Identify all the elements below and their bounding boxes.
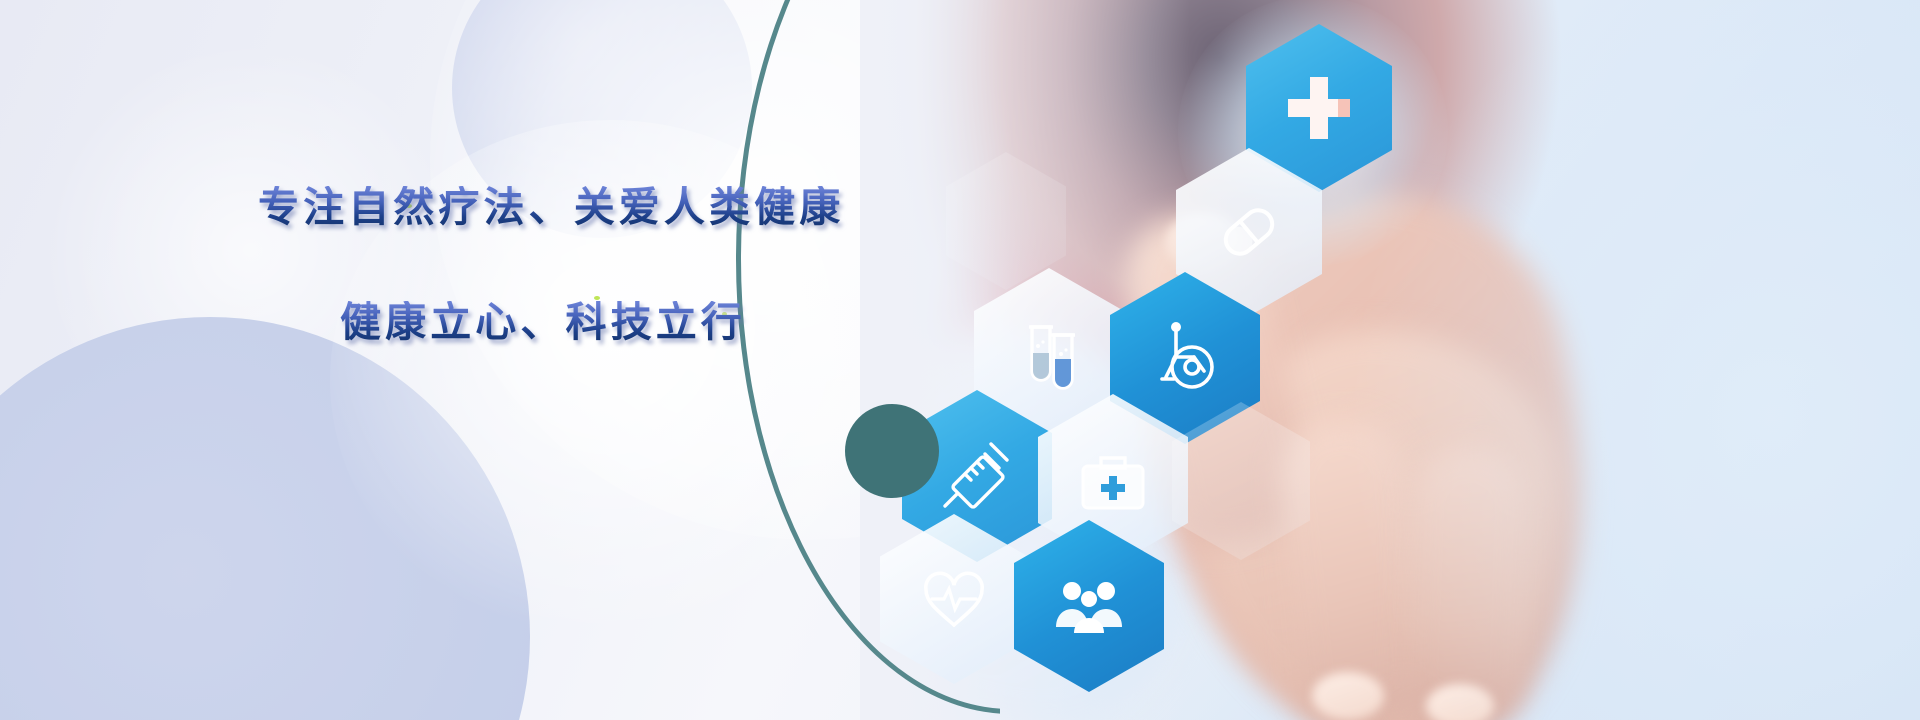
lavender-circle-bottom-left xyxy=(0,317,530,720)
teal-dot-decoration xyxy=(845,404,939,498)
headline-group: 专注自然疗法、关爱人类健康 健康立心、科技立行 xyxy=(258,186,898,344)
headline-line-1: 专注自然疗法、关爱人类健康 xyxy=(258,186,898,229)
doctor-photo-panel xyxy=(860,0,1920,720)
healthcare-hero-banner: 专注自然疗法、关爱人类健康 健康立心、科技立行 xyxy=(0,0,1920,720)
medical-hexagon-cluster xyxy=(860,0,1920,720)
headline-line-2: 健康立心、科技立行 xyxy=(340,301,898,344)
